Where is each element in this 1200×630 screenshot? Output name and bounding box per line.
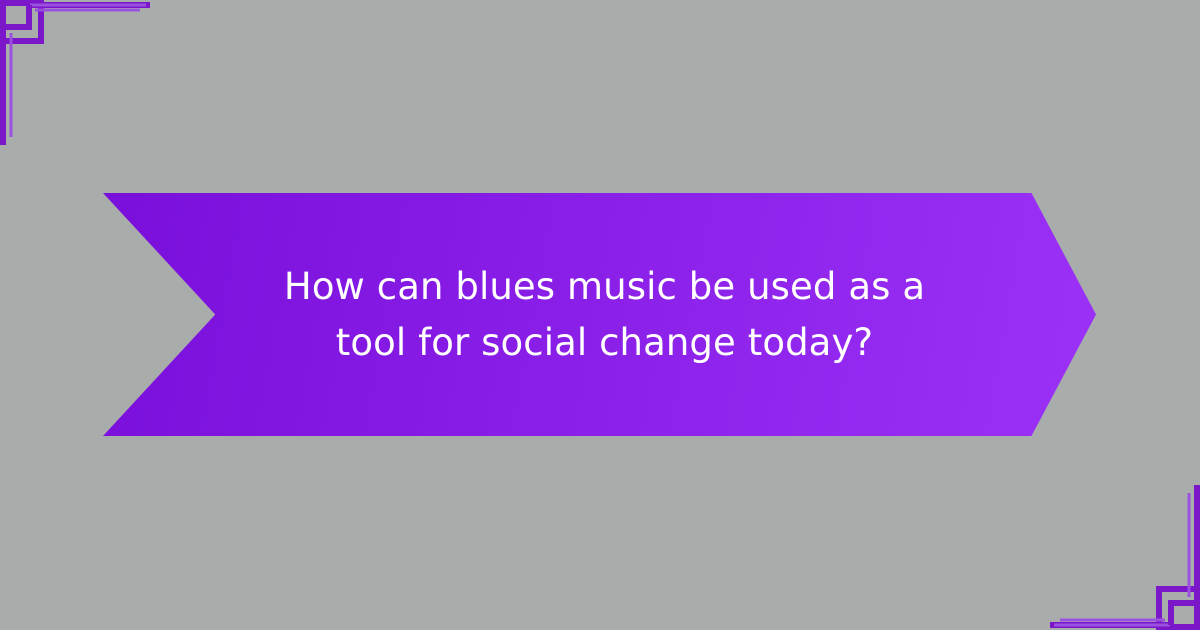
question-banner: How can blues music be used as a tool fo… xyxy=(103,193,1096,436)
screenshot-canvas: How can blues music be used as a tool fo… xyxy=(0,0,1200,630)
circuit-corner-bottom-right-svg xyxy=(950,450,1200,630)
circuit-corner-bottom-right-icon xyxy=(950,450,1200,630)
circuit-corner-top-left-svg xyxy=(0,0,250,180)
circuit-corner-top-left-icon xyxy=(0,0,250,180)
banner-question-title: How can blues music be used as a tool fo… xyxy=(245,259,965,370)
banner-text-container: How can blues music be used as a tool fo… xyxy=(103,193,1096,436)
